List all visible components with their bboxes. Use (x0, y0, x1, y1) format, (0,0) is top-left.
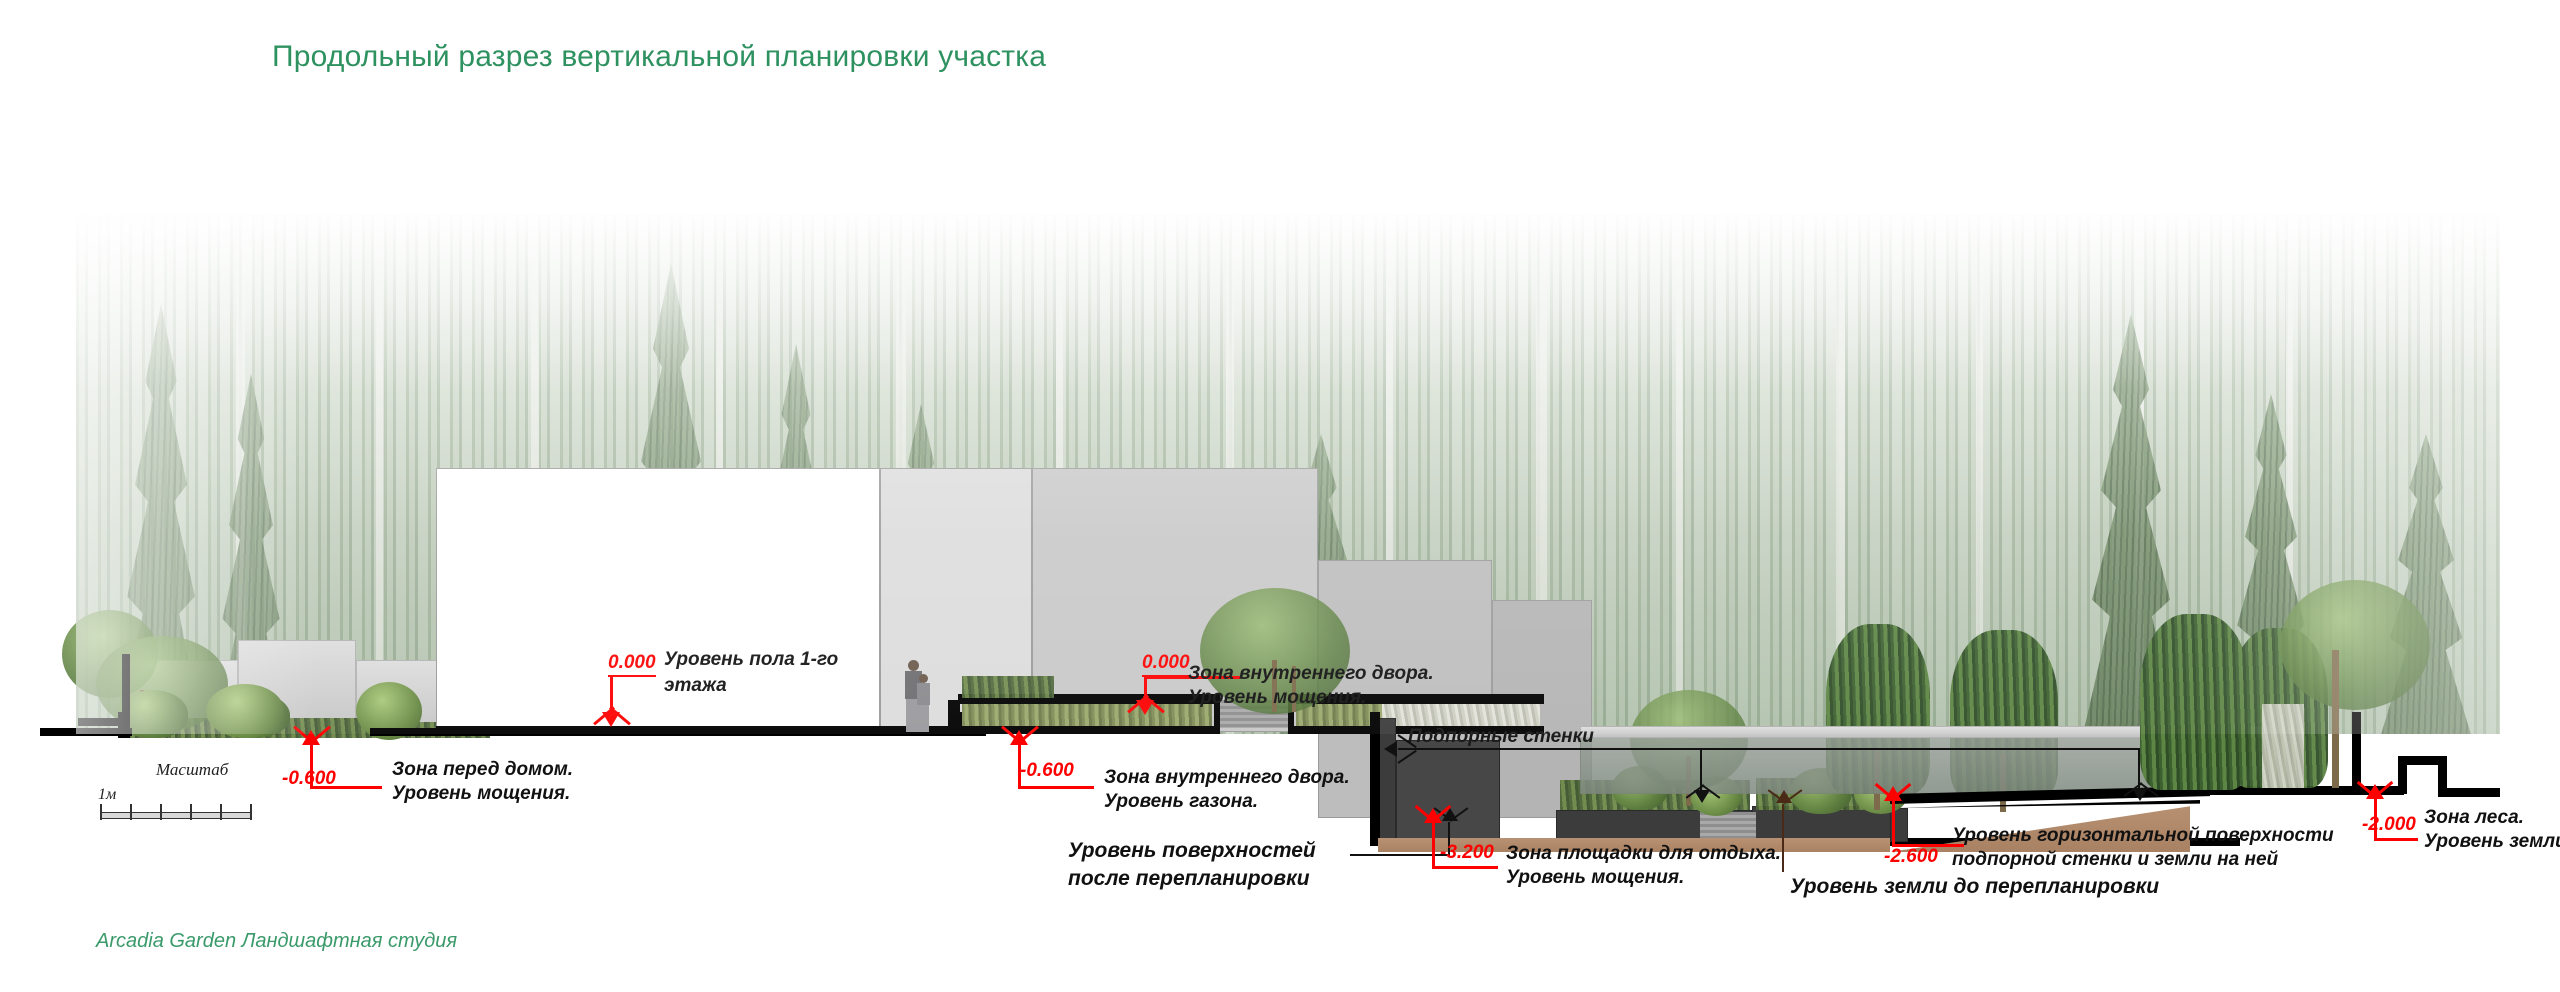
figure-child-body (917, 683, 930, 705)
leader-line-retaining-walls (1400, 748, 1402, 750)
level-mark-courtyard-paving: 0.000 (1142, 652, 1190, 677)
scale-tick (220, 804, 222, 820)
cut-line-planter-base (958, 726, 1216, 734)
human-figure-scale (900, 660, 934, 732)
cut-line-floor-slab (436, 726, 948, 736)
scale-bar-track (100, 812, 252, 819)
annotation-rest-area-line2: Уровень мощения. (1506, 866, 1684, 889)
leader-line-retaining-top (1892, 800, 1895, 846)
retaining-wall-1 (1378, 718, 1396, 844)
leader-line-retaining-walls (1398, 748, 1400, 750)
leader-line-courtyard-lawn (1018, 786, 1094, 789)
leader-line-forest-zone (2374, 838, 2418, 841)
annotation-retaining-top-line1: Уровень горизонтальной поверхности (1952, 824, 2334, 847)
terrace-steps (1700, 812, 1756, 838)
drawing-canvas: Продольный разрез вертикальной планировк… (0, 0, 2560, 992)
scale-tick (160, 804, 162, 820)
annotation-first-floor-line2: этажа (664, 674, 727, 697)
scale-tick (130, 804, 132, 820)
callout-surfaces-after-line2: после перепланировки (1068, 866, 1310, 892)
level-mark-courtyard-lawn: -0.600 (1020, 760, 1074, 782)
tree-trunk (2332, 650, 2339, 788)
cut-line-retaining-wall (1370, 712, 1380, 846)
annotation-first-floor-line1: Уровень пола 1-го (664, 648, 838, 671)
scale-tick (100, 804, 102, 820)
cut-line-ground (40, 728, 132, 736)
figure-child-head (919, 674, 928, 683)
figure-head (908, 660, 919, 671)
forest-tree-crown (2280, 580, 2430, 710)
level-mark-rest-area: -3.200 (1440, 842, 1494, 864)
annotation-rest-area-line1: Зона площадки для отдыха. (1506, 842, 1781, 865)
arrow-down-icon (1694, 790, 1710, 803)
leader-line-rest-area (1432, 866, 1498, 869)
scale-tick (190, 804, 192, 820)
scale-tick (250, 804, 252, 820)
level-mark-retaining-top: -2.600 (1884, 846, 1938, 868)
house-volume-main (436, 468, 880, 732)
scale-label: Масштаб (156, 760, 228, 780)
callout-surfaces-after-line1: Уровень поверхностей (1068, 838, 1316, 864)
level-mark-forest-zone: -2.000 (2362, 814, 2416, 836)
callout-retaining-walls: Подпорные стенки (1408, 726, 1594, 748)
hedge-block (962, 676, 1054, 698)
arrow-left-icon (1384, 741, 1397, 757)
annotation-courtyard-lawn-line2: Уровень газона. (1104, 790, 1258, 813)
annotation-front-yard-line1: Зона перед домом. (392, 758, 573, 781)
annotation-forest-zone-line2: Уровень земли. (2424, 830, 2560, 853)
annotation-retaining-top-line2: подпорной стенки и земли на ней (1952, 848, 2278, 871)
figure-child-legs (918, 705, 929, 732)
annotation-forest-zone-line1: Зона леса. (2424, 806, 2524, 829)
annotation-courtyard-paving-line2: Уровень мощения. (1188, 686, 1366, 709)
level-mark-first-floor: 0.000 (608, 652, 656, 677)
leader-line-surfaces-after (1350, 854, 1450, 856)
leader-line-retaining-walls-3 (1700, 748, 2140, 750)
arrow-down-icon (2132, 788, 2148, 801)
shrub (206, 684, 284, 738)
studio-signature: Arcadia Garden Ландшафтная студия (96, 930, 457, 953)
cut-line-ground (370, 728, 436, 736)
level-mark-front-yard: -0.600 (282, 768, 336, 790)
gravel-strip (2262, 704, 2304, 788)
callout-ground-before: Уровень земли до перепланировки (1790, 874, 2159, 900)
leader-line-retaining-walls (1400, 748, 1700, 750)
scale-unit-label: 1м (98, 786, 116, 804)
leader-line-ground-before (1782, 804, 1784, 872)
annotation-front-yard-line2: Уровень мощения. (392, 782, 570, 805)
gravel-fill (1382, 704, 1540, 728)
annotation-courtyard-lawn-line1: Зона внутреннего двора. (1104, 766, 1350, 789)
leader-line-rest-area (1432, 822, 1435, 868)
cut-line-boundary-base (2438, 788, 2500, 797)
lawn-fill (962, 704, 1212, 728)
annotation-courtyard-paving-line1: Зона внутреннего двора. (1188, 662, 1434, 685)
